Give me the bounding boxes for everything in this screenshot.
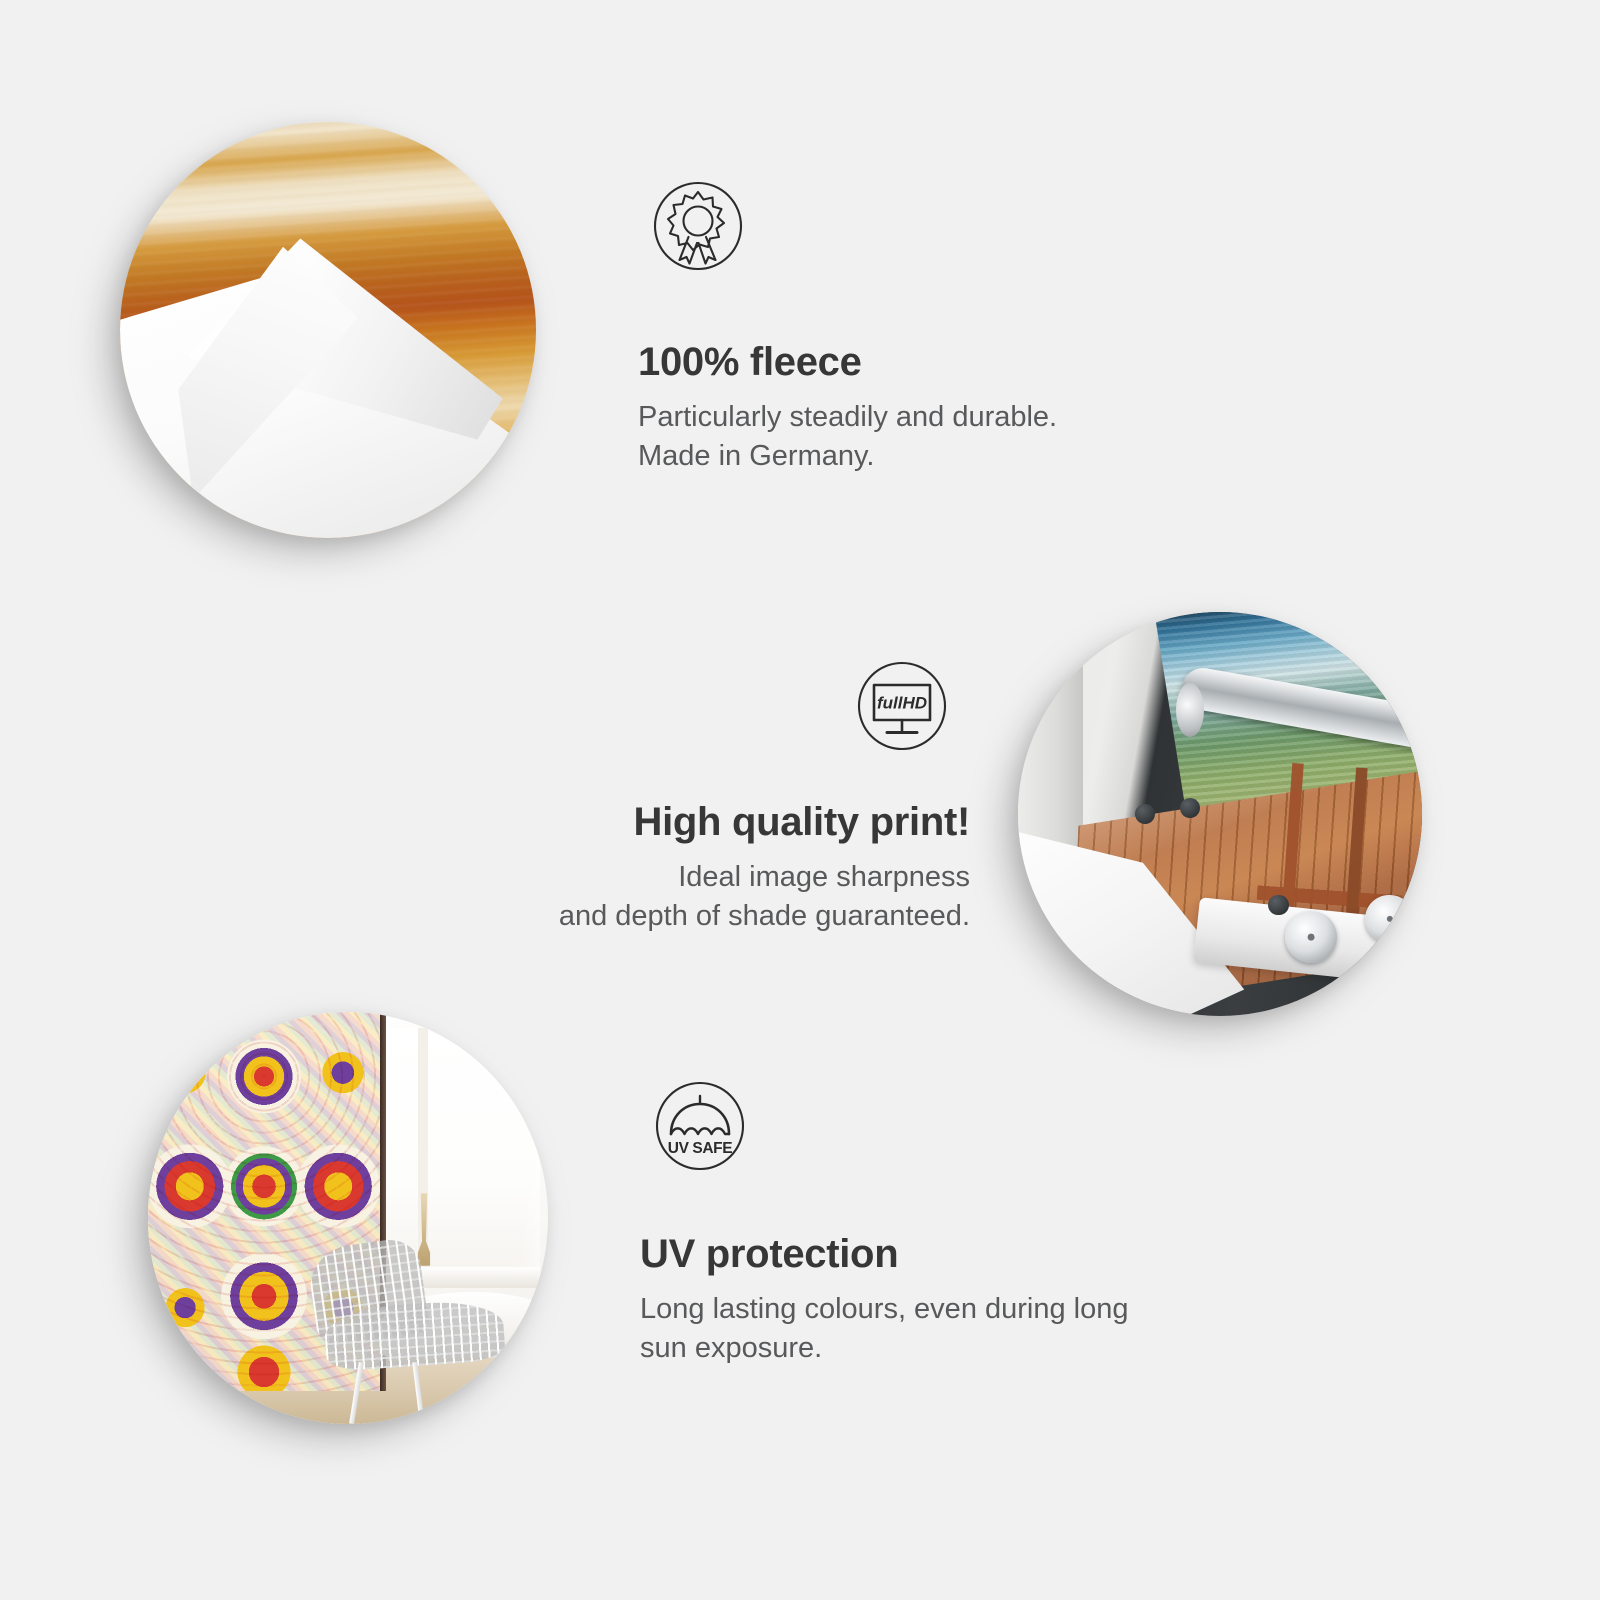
- uv-safe-icon-label: UV SAFE: [668, 1140, 732, 1157]
- feature-fleece-text: 100% fleece Particularly steadily and du…: [638, 340, 1238, 475]
- wire-chair-leg: [349, 1362, 364, 1424]
- fullhd-icon-label: fullHD: [877, 694, 927, 713]
- feature-uv-text: UV protection Long lasting colours, even…: [640, 1232, 1300, 1367]
- feature-uv-title: UV protection: [640, 1232, 1300, 1276]
- feature-fleece-title: 100% fleece: [638, 340, 1238, 384]
- mandala-wallpaper-room-photo: [148, 1012, 548, 1424]
- wire-chair: [308, 1243, 516, 1424]
- photo-inner: [1018, 612, 1422, 1016]
- printer-roller-end-cap: [1176, 683, 1204, 738]
- uv-safe-umbrella-icon: UV SAFE: [650, 1076, 750, 1176]
- printer-wheel-hub: [1387, 916, 1393, 922]
- feature-print-title: High quality print!: [380, 800, 970, 844]
- fullhd-monitor-icon: fullHD: [852, 656, 952, 756]
- feature-print-text: High quality print! Ideal image sharpnes…: [380, 800, 970, 935]
- feature-print-description: Ideal image sharpness and depth of shade…: [380, 858, 970, 935]
- photo-inner: [120, 122, 536, 538]
- printer-wheel: [1365, 895, 1413, 943]
- photo-inner: [148, 1012, 548, 1424]
- award-ribbon-icon: [648, 176, 748, 276]
- infographic-stage: 100% fleece Particularly steadily and du…: [0, 0, 1600, 1600]
- printer-knob: [1268, 895, 1288, 915]
- printer-knob: [1180, 798, 1200, 818]
- printer-wheel-hub: [1307, 934, 1314, 941]
- feature-fleece-description: Particularly steadily and durable. Made …: [638, 398, 1238, 475]
- large-format-printer-photo: [1018, 612, 1422, 1016]
- fleece-paper-curl-photo: [120, 122, 536, 538]
- feature-uv-description: Long lasting colours, even during long s…: [640, 1290, 1300, 1367]
- wire-chair-leg: [412, 1362, 425, 1424]
